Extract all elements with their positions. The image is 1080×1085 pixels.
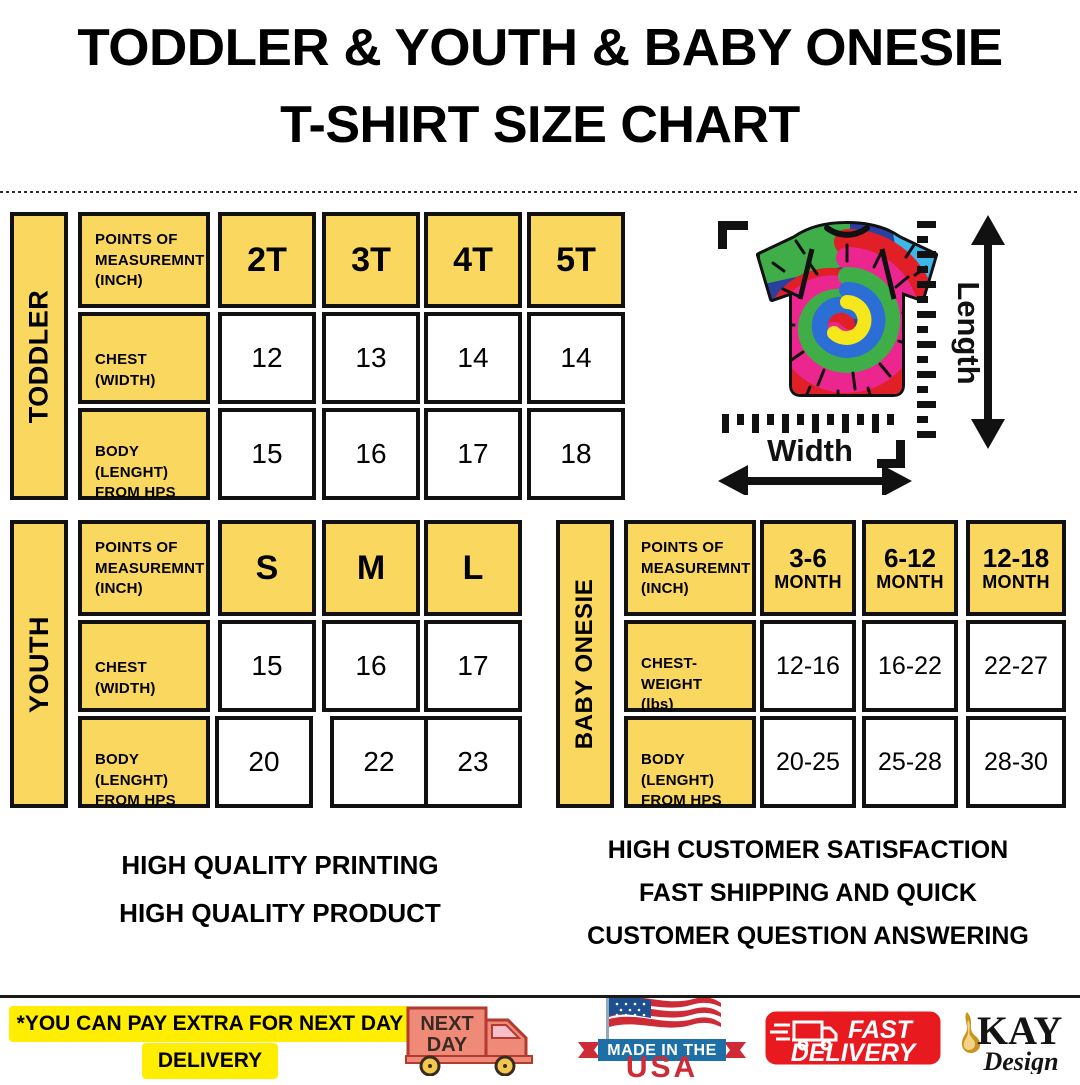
fast-delivery-line-2: DELIVERY <box>791 1039 918 1067</box>
header-size-3-6-month: 3-6 MONTH <box>760 520 856 616</box>
table-toddler: TODDLER POINTS OF MEASUREMNT (INCH) 2T 3… <box>10 212 620 500</box>
table-cell: 16 <box>322 620 420 712</box>
row-label-chest-width-youth: CHEST (WIDTH) <box>78 620 210 712</box>
table-cell: 20 <box>215 716 313 808</box>
header-size-5t: 5T <box>527 212 625 308</box>
table-cell: 12-16 <box>760 620 856 712</box>
table-cell: 25-28 <box>862 716 958 808</box>
page-title-line-1: TODDLER & YOUTH & BABY ONESIE <box>0 22 1080 75</box>
next-day-note-line-1: *YOU CAN PAY EXTRA FOR NEXT DAY <box>9 1006 412 1042</box>
brand-logo: KAY Design <box>953 1004 1077 1074</box>
side-label-toddler: TODDLER <box>10 212 68 500</box>
truck-badge-line-2: DAY <box>427 1034 468 1056</box>
header-size-3t: 3T <box>322 212 420 308</box>
table-cell: 28-30 <box>966 716 1066 808</box>
corner-bracket-icon <box>718 221 748 249</box>
page-title-line-2: T-SHIRT SIZE CHART <box>0 99 1080 152</box>
measurement-diagram: Length Width <box>700 205 1010 495</box>
logo-sub-text: Design <box>982 1047 1058 1074</box>
side-label-youth: YOUTH <box>10 520 68 808</box>
table-cell: 12 <box>218 312 316 404</box>
promo-line: CUSTOMER QUESTION ANSWERING <box>548 924 1068 949</box>
header-size-l: L <box>424 520 522 616</box>
table-cell: 22 <box>330 716 428 808</box>
header-points-of-measurement-youth: POINTS OF MEASUREMNT (INCH) <box>78 520 210 616</box>
promo-service-text: HIGH CUSTOMER SATISFACTION FAST SHIPPING… <box>548 838 1068 949</box>
promo-line: HIGH QUALITY PRINTING <box>60 852 500 878</box>
next-day-truck-badge: NEXT DAY <box>404 1002 544 1076</box>
row-label-body-length-toddler: BODY (LENGHT) FROM HPS <box>78 408 210 500</box>
promo-line: HIGH QUALITY PRODUCT <box>60 900 500 926</box>
table-cell: 20-25 <box>760 716 856 808</box>
row-label-chest-width-toddler: CHEST (WIDTH) <box>78 312 210 404</box>
table-cell: 16 <box>322 408 420 500</box>
header-size-2t: 2T <box>218 212 316 308</box>
table-cell: 15 <box>218 408 316 500</box>
made-in-usa-badge: MADE IN THE USA <box>572 998 752 1080</box>
width-label: Width <box>767 433 853 468</box>
width-arrow-icon <box>718 465 912 495</box>
footer-bar: *YOU CAN PAY EXTRA FOR NEXT DAY DELIVERY… <box>0 998 1080 1080</box>
row-label-chest-weight-baby: CHEST- WEIGHT (lbs) <box>624 620 756 712</box>
table-cell: 15 <box>218 620 316 712</box>
truck-badge-line-1: NEXT <box>420 1013 473 1035</box>
american-flag-icon <box>606 998 721 1042</box>
table-cell: 13 <box>322 312 420 404</box>
next-day-note-line-2: DELIVERY <box>142 1043 278 1079</box>
header-size-m: M <box>322 520 420 616</box>
promo-line: HIGH CUSTOMER SATISFACTION <box>548 838 1068 863</box>
page-title: TODDLER & YOUTH & BABY ONESIE T-SHIRT SI… <box>0 22 1080 152</box>
table-cell: 17 <box>424 408 522 500</box>
fast-delivery-badge: FAST DELIVERY <box>762 1008 944 1068</box>
header-size-s: S <box>218 520 316 616</box>
table-cell: 22-27 <box>966 620 1066 712</box>
table-cell: 17 <box>424 620 522 712</box>
table-cell: 23 <box>424 716 522 808</box>
dotted-divider <box>0 191 1080 194</box>
table-cell: 14 <box>424 312 522 404</box>
side-label-baby-onesie: BABY ONESIE <box>556 520 614 808</box>
length-label: Length <box>951 281 986 384</box>
usa-badge-word: USA <box>626 1051 698 1080</box>
header-size-6-12-month: 6-12 MONTH <box>862 520 958 616</box>
promo-quality-text: HIGH QUALITY PRINTING HIGH QUALITY PRODU… <box>60 852 500 926</box>
next-day-delivery-note: *YOU CAN PAY EXTRA FOR NEXT DAY DELIVERY <box>0 1006 420 1079</box>
row-label-body-length-baby: BODY (LENGHT) FROM HPS <box>624 716 756 808</box>
header-points-of-measurement-baby: POINTS OF MEASUREMNT (INCH) <box>624 520 756 616</box>
table-cell: 18 <box>527 408 625 500</box>
promo-line: FAST SHIPPING AND QUICK <box>548 881 1068 906</box>
header-size-12-18-month: 12-18 MONTH <box>966 520 1066 616</box>
table-cell: 14 <box>527 312 625 404</box>
header-points-of-measurement-toddler: POINTS OF MEASUREMNT (INCH) <box>78 212 210 308</box>
horizontal-ruler-icon <box>722 414 894 433</box>
table-cell: 16-22 <box>862 620 958 712</box>
table-youth: YOUTH POINTS OF MEASUREMNT (INCH) S M L … <box>10 520 530 808</box>
row-label-body-length-youth: BODY (LENGHT) FROM HPS <box>78 716 210 808</box>
table-baby-onesie: BABY ONESIE POINTS OF MEASUREMNT (INCH) … <box>556 520 1068 808</box>
header-size-4t: 4T <box>424 212 522 308</box>
vertical-ruler-icon <box>917 221 936 438</box>
